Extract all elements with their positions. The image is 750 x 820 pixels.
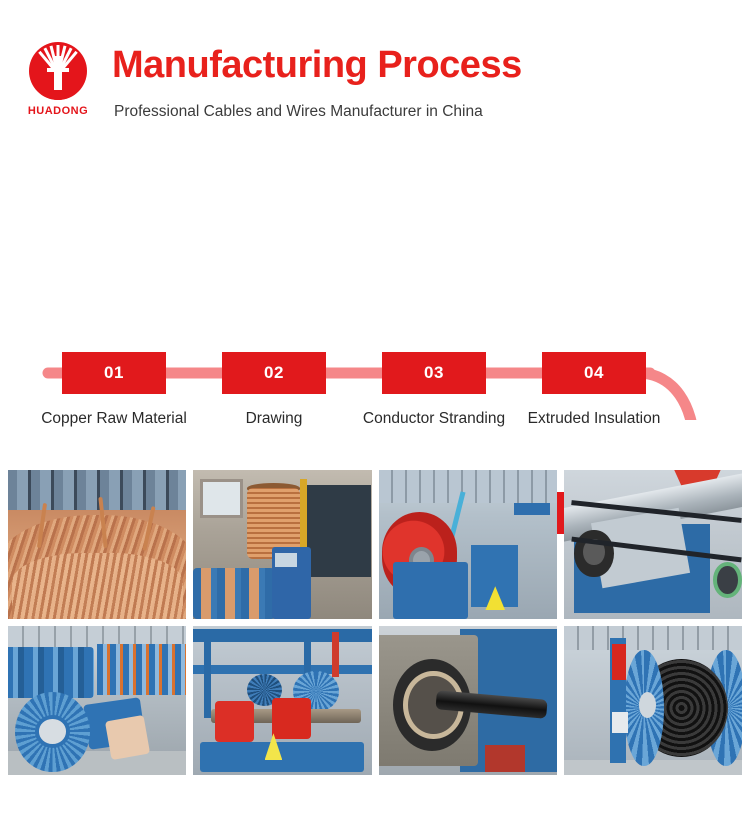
factory-photo-gallery (8, 470, 742, 775)
conductor-stranding-machine-photo[interactable] (379, 470, 557, 619)
packing-on-drum-photo[interactable] (564, 626, 742, 775)
step-number-badge: 04 (542, 352, 646, 394)
insulation-extruder-photo[interactable] (564, 470, 742, 619)
page-subtitle: Professional Cables and Wires Manufactur… (114, 103, 483, 121)
step-label: Conductor Stranding (363, 410, 505, 428)
step-label: Copper Raw Material (41, 410, 187, 428)
page-title: Manufacturing Process (112, 44, 522, 87)
step-number-badge: 03 (382, 352, 486, 394)
wire-drawing-machine-photo[interactable] (193, 470, 371, 619)
process-step-01[interactable]: 01 Copper Raw Material (62, 352, 166, 394)
outer-sheath-extrusion-die-photo[interactable] (379, 626, 557, 775)
step-number-badge: 01 (62, 352, 166, 394)
copper-raw-material-coils-photo[interactable] (8, 470, 186, 619)
step-label: Drawing (246, 410, 303, 428)
step-number-badge: 02 (222, 352, 326, 394)
process-step-04[interactable]: 04 Extruded Insulation (542, 352, 646, 394)
page-header: HUADONG Manufacturing Process Profession… (0, 0, 750, 150)
process-flow-diagram: 01 Copper Raw Material 02 Drawing 03 Con… (0, 150, 750, 420)
process-step-02[interactable]: 02 Drawing (222, 352, 326, 394)
process-step-03[interactable]: 03 Conductor Stranding (382, 352, 486, 394)
cabling-drums-workshop-photo[interactable] (8, 626, 186, 775)
brand-logo: HUADONG (22, 42, 94, 117)
huadong-fan-emblem-icon (29, 42, 87, 100)
armouring-machine-photo[interactable] (193, 626, 371, 775)
step-label: Extruded Insulation (528, 410, 661, 428)
brand-name: HUADONG (22, 105, 94, 117)
